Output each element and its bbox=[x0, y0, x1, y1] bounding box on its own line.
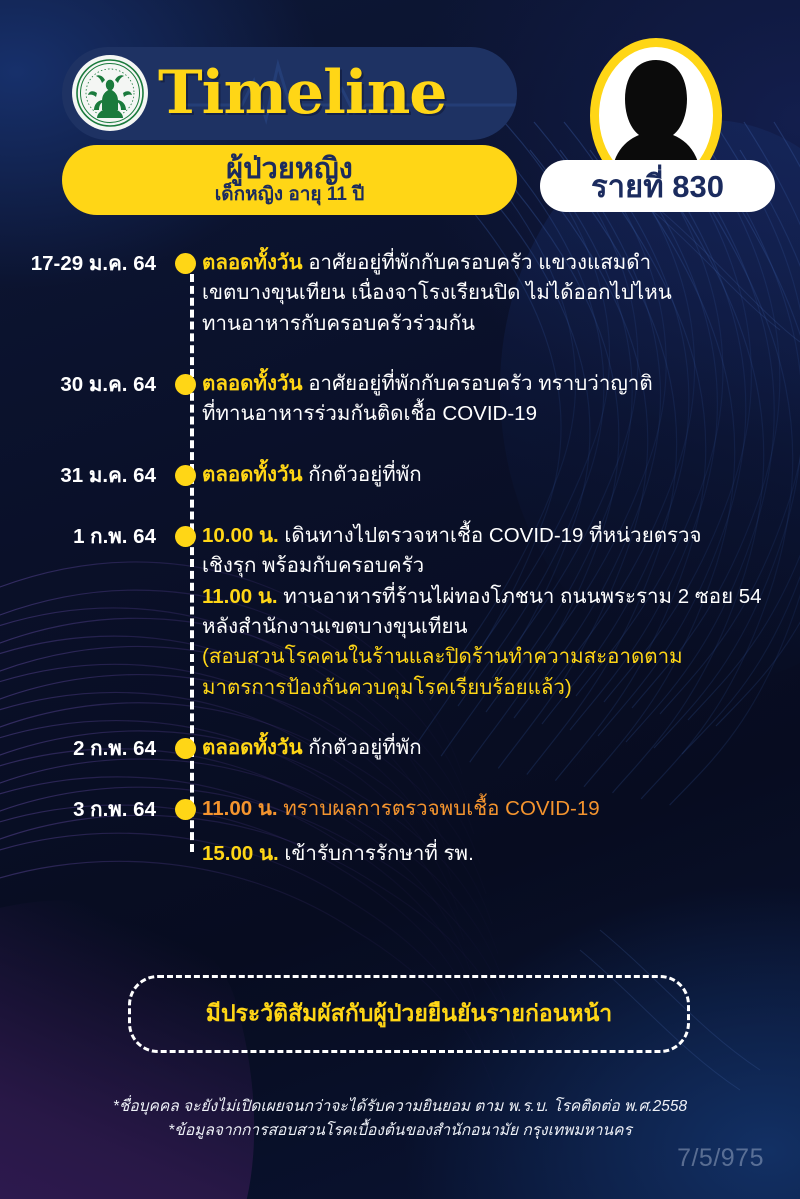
timeline-text-segment: ที่ทานอาหารร่วมกันติดเชื้อ COVID-19 bbox=[202, 402, 537, 425]
timeline-entry-line: ทานอาหารกับครอบครัวร่วมกัน bbox=[202, 309, 782, 339]
timeline-entry-line: หลังสำนักงานเขตบางขุนเทียน bbox=[202, 612, 782, 642]
timeline-entry-date: 1 ก.พ. 64 bbox=[0, 521, 168, 552]
timeline-dot bbox=[175, 526, 196, 547]
timeline-entry-body: 10.00 น. เดินทางไปตรวจหาเชื้อ COVID-19 ท… bbox=[202, 521, 800, 703]
timeline-entry-line: 15.00 น. เข้ารับการรักษาที่ รพ. bbox=[202, 839, 782, 869]
timeline-rows: 17-29 ม.ค. 64ตลอดทั้งวัน อาศัยอยู่ที่พัก… bbox=[0, 248, 800, 870]
svg-text:·····: ····· bbox=[107, 121, 112, 125]
timeline-text-segment: เชิงรุก พร้อมกับครอบครัว bbox=[202, 554, 424, 577]
footer-disclaimer-line-2: *ข้อมูลจากการสอบสวนโรคเบื้องต้นของสำนักอ… bbox=[0, 1119, 800, 1143]
timeline-entry: 3 ก.พ. 6411.00 น. ทราบผลการตรวจพบเชื้อ C… bbox=[0, 794, 800, 869]
timeline-text-segment: 15.00 น. bbox=[202, 842, 284, 865]
timeline-entry-line: ที่ทานอาหารร่วมกันติดเชื้อ COVID-19 bbox=[202, 399, 782, 429]
timeline-dot-column bbox=[168, 794, 202, 820]
timeline-entry-body: ตลอดทั้งวัน อาศัยอยู่ที่พักกับครอบครัว ท… bbox=[202, 369, 800, 430]
timeline-dot-column bbox=[168, 248, 202, 274]
timeline-text-segment: ทานอาหารที่ร้านไผ่ทองโภชนา ถนนพระราม 2 ซ… bbox=[283, 585, 761, 608]
timeline-entry-body: ตลอดทั้งวัน อาศัยอยู่ที่พักกับครอบครัว แ… bbox=[202, 248, 800, 339]
timeline-entry-line: ตลอดทั้งวัน กักตัวอยู่ที่พัก bbox=[202, 733, 782, 763]
title-pill: ····· ····· Timeline bbox=[62, 47, 517, 140]
timeline-entry-date: 30 ม.ค. 64 bbox=[0, 369, 168, 400]
timeline-entry: 2 ก.พ. 64ตลอดทั้งวัน กักตัวอยู่ที่พัก bbox=[0, 733, 800, 764]
case-number-label: รายที่ 830 bbox=[591, 171, 724, 202]
timeline-text-segment: กักตัวอยู่ที่พัก bbox=[308, 736, 421, 759]
timeline-dot bbox=[175, 465, 196, 486]
contact-history-label: มีประวัติสัมผัสกับผู้ป่วยยืนยันรายก่อนหน… bbox=[206, 1000, 612, 1028]
timeline-dot-column bbox=[168, 369, 202, 395]
timeline-text-segment: ตลอดทั้งวัน bbox=[202, 251, 308, 274]
timeline-entry-line: เชิงรุก พร้อมกับครอบครัว bbox=[202, 551, 782, 581]
timeline-entry-line: ตลอดทั้งวัน กักตัวอยู่ที่พัก bbox=[202, 460, 782, 490]
timeline: 17-29 ม.ค. 64ตลอดทั้งวัน อาศัยอยู่ที่พัก… bbox=[0, 248, 800, 870]
patient-subtitle-pill: ผู้ป่วยหญิง เด็กหญิง อายุ 11 ปี bbox=[62, 145, 517, 215]
timeline-text-segment: ตลอดทั้งวัน bbox=[202, 463, 308, 486]
contact-history-box: มีประวัติสัมผัสกับผู้ป่วยยืนยันรายก่อนหน… bbox=[128, 975, 690, 1053]
footer-disclaimer-line-1: *ชื่อบุคคล จะยังไม่เปิดเผยจนกว่าจะได้รับ… bbox=[0, 1095, 800, 1119]
timeline-entry-body: 11.00 น. ทราบผลการตรวจพบเชื้อ COVID-19 1… bbox=[202, 794, 800, 869]
timeline-entry: 30 ม.ค. 64ตลอดทั้งวัน อาศัยอยู่ที่พักกับ… bbox=[0, 369, 800, 430]
timeline-entry-body: ตลอดทั้งวัน กักตัวอยู่ที่พัก bbox=[202, 460, 800, 490]
timeline-text-segment: เขตบางขุนเทียน เนื่องจาโรงเรียนปิด ไม่ได… bbox=[202, 281, 672, 304]
timeline-dot bbox=[175, 253, 196, 274]
timeline-text-segment: 11.00 น. bbox=[202, 585, 283, 608]
timeline-dot-column bbox=[168, 460, 202, 486]
timeline-entry-line: มาตรการป้องกันควบคุมโรคเรียบร้อยแล้ว) bbox=[202, 673, 782, 703]
timeline-text-segment: เข้ารับการรักษาที่ รพ. bbox=[284, 842, 473, 865]
timeline-entry-body: ตลอดทั้งวัน กักตัวอยู่ที่พัก bbox=[202, 733, 800, 763]
watermark-label: 7/5/975 bbox=[677, 1144, 764, 1173]
timeline-entry-date: 3 ก.พ. 64 bbox=[0, 794, 168, 825]
patient-type-label: ผู้ป่วยหญิง bbox=[226, 154, 353, 185]
timeline-entry: 17-29 ม.ค. 64ตลอดทั้งวัน อาศัยอยู่ที่พัก… bbox=[0, 248, 800, 339]
svg-text:·····: ····· bbox=[107, 66, 112, 70]
timeline-entry: 1 ก.พ. 6410.00 น. เดินทางไปตรวจหาเชื้อ C… bbox=[0, 521, 800, 703]
timeline-dot bbox=[175, 374, 196, 395]
timeline-entry-line: เขตบางขุนเทียน เนื่องจาโรงเรียนปิด ไม่ได… bbox=[202, 278, 782, 308]
timeline-dot-column bbox=[168, 733, 202, 759]
footer: *ชื่อบุคคล จะยังไม่เปิดเผยจนกว่าจะได้รับ… bbox=[0, 1095, 800, 1143]
timeline-entry-line bbox=[202, 825, 782, 840]
timeline-entry-line: (สอบสวนโรคคนในร้านและปิดร้านทำความสะอาดต… bbox=[202, 642, 782, 672]
timeline-entry-line: 11.00 น. ทานอาหารที่ร้านไผ่ทองโภชนา ถนนพ… bbox=[202, 582, 782, 612]
timeline-dot bbox=[175, 738, 196, 759]
timeline-entry-line: ตลอดทั้งวัน อาศัยอยู่ที่พักกับครอบครัว ท… bbox=[202, 369, 782, 399]
timeline-text-segment: ทานอาหารกับครอบครัวร่วมกัน bbox=[202, 312, 475, 335]
timeline-text-segment: ทราบผลการตรวจพบเชื้อ COVID-19 bbox=[283, 797, 599, 820]
timeline-text-segment: มาตรการป้องกันควบคุมโรคเรียบร้อยแล้ว) bbox=[202, 676, 572, 699]
timeline-text-segment: 10.00 น. bbox=[202, 524, 284, 547]
timeline-dot-column bbox=[168, 521, 202, 547]
timeline-text-segment: กักตัวอยู่ที่พัก bbox=[308, 463, 421, 486]
timeline-text-segment: เดินทางไปตรวจหาเชื้อ COVID-19 ที่หน่วยตร… bbox=[284, 524, 701, 547]
timeline-text-segment: ตลอดทั้งวัน bbox=[202, 736, 308, 759]
header: ····· ····· Timeline ผู้ป่วยหญิง เด็กหญิ… bbox=[0, 0, 800, 232]
timeline-text-segment: หลังสำนักงานเขตบางขุนเทียน bbox=[202, 615, 468, 638]
timeline-dot bbox=[175, 799, 196, 820]
timeline-text-segment: 11.00 น. bbox=[202, 797, 283, 820]
page-title: Timeline bbox=[158, 62, 446, 122]
timeline-text-segment: (สอบสวนโรคคนในร้านและปิดร้านทำความสะอาดต… bbox=[202, 645, 683, 668]
timeline-entry-date: 31 ม.ค. 64 bbox=[0, 460, 168, 491]
timeline-entry-date: 2 ก.พ. 64 bbox=[0, 733, 168, 764]
timeline-entry-date: 17-29 ม.ค. 64 bbox=[0, 248, 168, 279]
timeline-entry: 31 ม.ค. 64ตลอดทั้งวัน กักตัวอยู่ที่พัก bbox=[0, 460, 800, 491]
case-number-pill: รายที่ 830 bbox=[540, 160, 775, 212]
patient-detail-label: เด็กหญิง อายุ 11 ปี bbox=[215, 185, 365, 206]
timeline-entry-line: 11.00 น. ทราบผลการตรวจพบเชื้อ COVID-19 bbox=[202, 794, 782, 824]
timeline-text-segment: อาศัยอยู่ที่พักกับครอบครัว ทราบว่าญาติ bbox=[308, 372, 652, 395]
timeline-entry-line: ตลอดทั้งวัน อาศัยอยู่ที่พักกับครอบครัว แ… bbox=[202, 248, 782, 278]
timeline-text-segment: ตลอดทั้งวัน bbox=[202, 372, 308, 395]
timeline-entry-line: 10.00 น. เดินทางไปตรวจหาเชื้อ COVID-19 ท… bbox=[202, 521, 782, 551]
bma-seal-icon: ····· ····· bbox=[72, 55, 148, 131]
timeline-text-segment: อาศัยอยู่ที่พักกับครอบครัว แขวงแสมดำ bbox=[308, 251, 651, 274]
